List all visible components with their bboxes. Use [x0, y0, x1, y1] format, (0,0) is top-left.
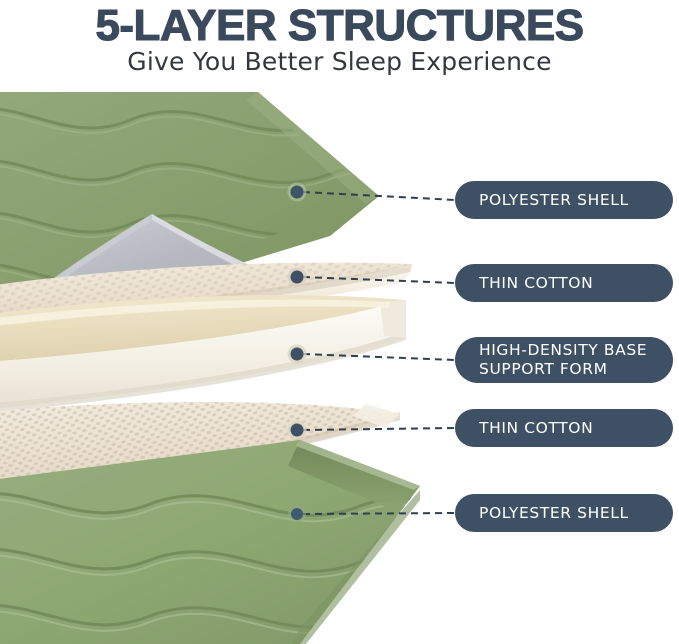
layer-label-thin-cotton-lower: THIN COTTON [455, 409, 673, 447]
layer-5-polyester-shell-art [0, 440, 540, 644]
page-title: 5-LAYER STRUCTURES [0, 3, 679, 49]
callout-dot-5 [288, 505, 306, 523]
page-subtitle: Give You Better Sleep Experience [0, 47, 679, 77]
callout-dot-3 [288, 345, 307, 364]
layer-label-polyester-shell-top: POLYESTER SHELL [455, 181, 673, 219]
callout-dot-1 [288, 183, 307, 202]
layer-label-polyester-shell-bottom: POLYESTER SHELL [455, 494, 673, 532]
callout-dot-2 [288, 268, 307, 287]
infographic-canvas: 5-LAYER STRUCTURES Give You Better Sleep… [0, 0, 679, 644]
layer-label-high-density-base-support-form: HIGH-DENSITY BASE SUPPORT FORM [455, 337, 673, 383]
layer-label-thin-cotton-upper: THIN COTTON [455, 264, 673, 302]
callout-dot-4 [288, 421, 307, 440]
layer-stack-illustration [0, 0, 679, 644]
